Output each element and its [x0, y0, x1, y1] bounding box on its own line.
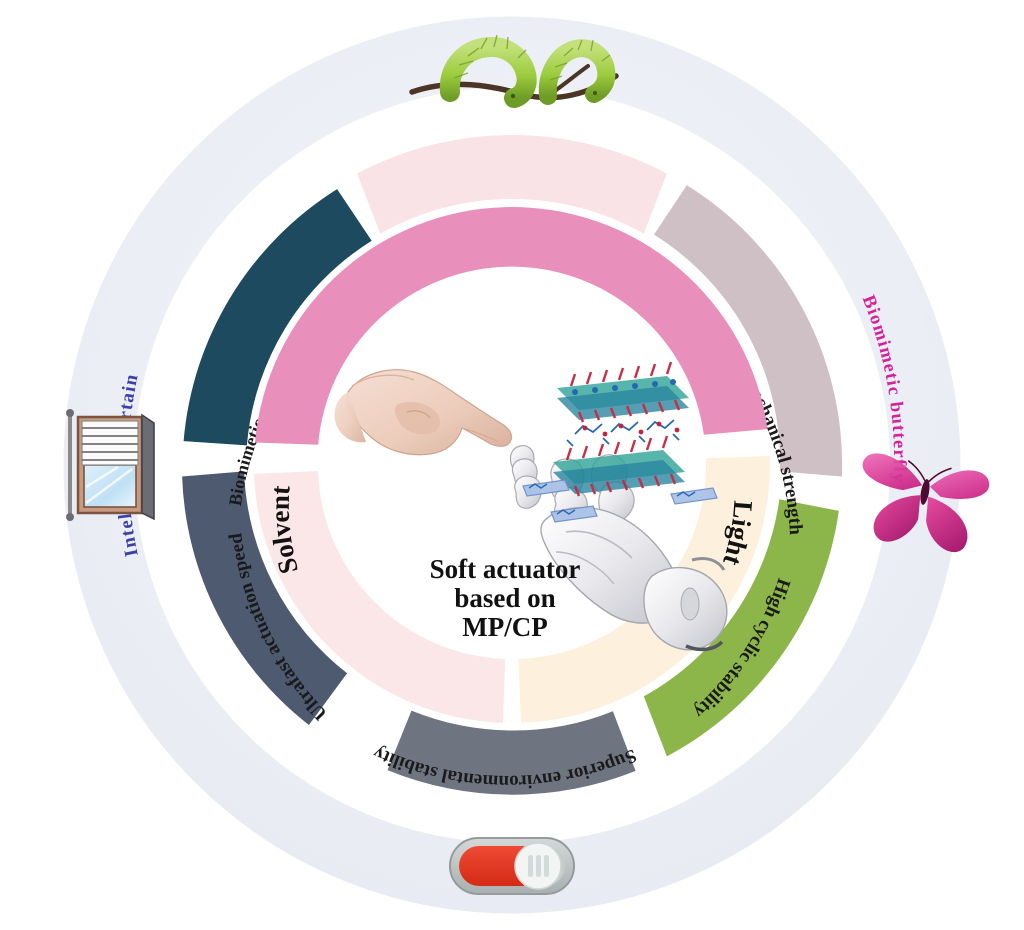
concentric-wheel-diagram: Biomimetic larva Biomimetic butterfly Sm… — [0, 0, 1024, 930]
center-title-line3: MP/CP — [462, 612, 547, 642]
toggle-switch-icon[interactable] — [450, 838, 574, 894]
center-title-line2: based on — [454, 583, 555, 613]
center-title-line1: Soft actuator — [430, 554, 581, 584]
figure-canvas: Biomimetic larva Biomimetic butterfly Sm… — [0, 0, 1024, 930]
window-blinds-icon — [66, 409, 154, 521]
